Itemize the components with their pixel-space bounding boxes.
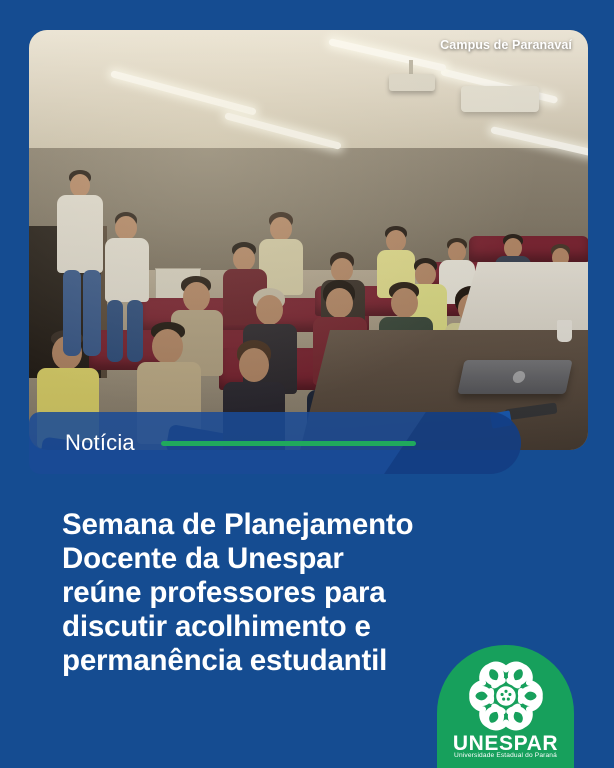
- headline-line: reúne professores para: [62, 576, 492, 610]
- news-card: Campus de Paranavaí Notícia Semana de Pl…: [0, 0, 614, 768]
- laptop: [457, 360, 572, 394]
- projector: [389, 74, 435, 91]
- badge-green-rule: [161, 441, 416, 446]
- headline-line: discutir acolhimento e: [62, 610, 492, 644]
- air-conditioner: [461, 86, 539, 112]
- campus-label: Campus de Paranavaí: [440, 38, 572, 52]
- category-badge-label: Notícia: [65, 430, 135, 456]
- headline-line: permanência estudantil: [62, 644, 492, 678]
- logo-subtitle: Universidade Estadual do Paraná: [437, 753, 574, 760]
- page-title: Semana de Planejamento Docente da Unespa…: [62, 508, 492, 678]
- headline-line: Semana de Planejamento: [62, 508, 492, 542]
- category-badge[interactable]: Notícia: [29, 412, 521, 474]
- news-photo: Campus de Paranavaí: [29, 30, 588, 450]
- logo-wordmark: UNESPAR: [437, 733, 574, 754]
- paper-cup: [557, 320, 572, 342]
- auditorium-photo-scene: [29, 30, 588, 450]
- laptop-logo: [512, 371, 527, 383]
- headline-line: Docente da Unespar: [62, 542, 492, 576]
